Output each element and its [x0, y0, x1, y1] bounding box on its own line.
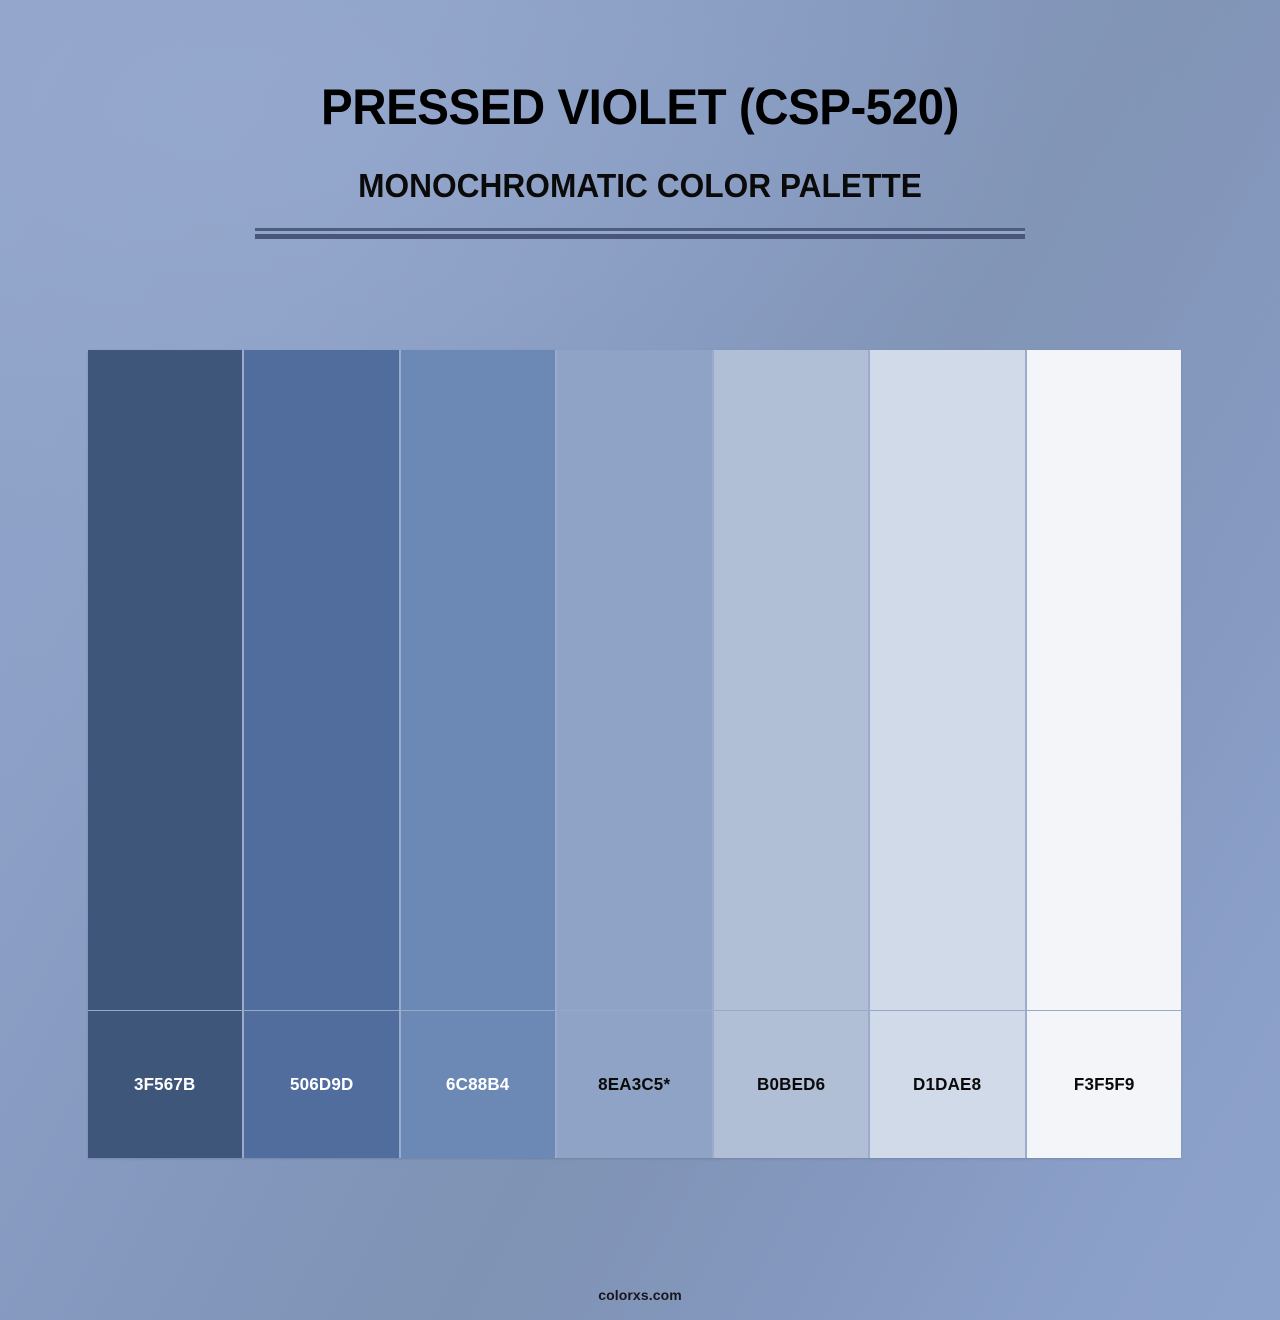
color-swatch-column[interactable]: D1DAE8 — [870, 350, 1024, 1158]
color-swatch-chip[interactable] — [870, 350, 1024, 1010]
color-swatch-chip[interactable] — [401, 350, 555, 1010]
color-hex-label: 8EA3C5* — [598, 1074, 670, 1095]
page-subtitle: MONOCHROMATIC COLOR PALETTE — [26, 164, 1255, 208]
color-hex-label: 3F567B — [134, 1074, 196, 1095]
color-swatch-chip[interactable] — [244, 350, 398, 1010]
color-hex-label: 506D9D — [290, 1074, 353, 1095]
color-swatch-label-band[interactable]: 8EA3C5* — [557, 1011, 711, 1158]
color-swatch-column[interactable]: 506D9D — [244, 350, 398, 1158]
color-swatch-column[interactable]: 6C88B4 — [401, 350, 555, 1158]
color-swatch-label-band[interactable]: 506D9D — [244, 1011, 398, 1158]
color-swatch-label-band[interactable]: D1DAE8 — [870, 1011, 1024, 1158]
divider-rule-thick — [255, 234, 1025, 239]
title-divider — [255, 228, 1025, 241]
color-hex-label: F3F5F9 — [1073, 1074, 1134, 1095]
color-swatch-label-band[interactable]: F3F5F9 — [1027, 1011, 1181, 1158]
footer-site-name: colorxs.com — [0, 1285, 1280, 1305]
color-swatch-column[interactable]: F3F5F9 — [1027, 350, 1181, 1158]
color-hex-label: D1DAE8 — [913, 1074, 981, 1095]
color-swatch-chip[interactable] — [714, 350, 868, 1010]
color-palette-board: 3F567B506D9D6C88B48EA3C5*B0BED6D1DAE8F3F… — [88, 350, 1181, 1158]
color-swatch-column[interactable]: 8EA3C5* — [557, 350, 711, 1158]
page-title: PRESSED VIOLET (CSP-520) — [32, 76, 1248, 138]
color-swatch-chip[interactable] — [557, 350, 711, 1010]
color-swatch-chip[interactable] — [1027, 350, 1181, 1010]
color-swatch-label-band[interactable]: 3F567B — [88, 1011, 242, 1158]
color-swatch-label-band[interactable]: B0BED6 — [714, 1011, 868, 1158]
color-swatch-label-band[interactable]: 6C88B4 — [401, 1011, 555, 1158]
color-swatch-column[interactable]: 3F567B — [88, 350, 242, 1158]
color-swatch-chip[interactable] — [88, 350, 242, 1010]
color-swatch-column[interactable]: B0BED6 — [714, 350, 868, 1158]
color-hex-label: 6C88B4 — [446, 1074, 509, 1095]
color-hex-label: B0BED6 — [757, 1074, 825, 1095]
